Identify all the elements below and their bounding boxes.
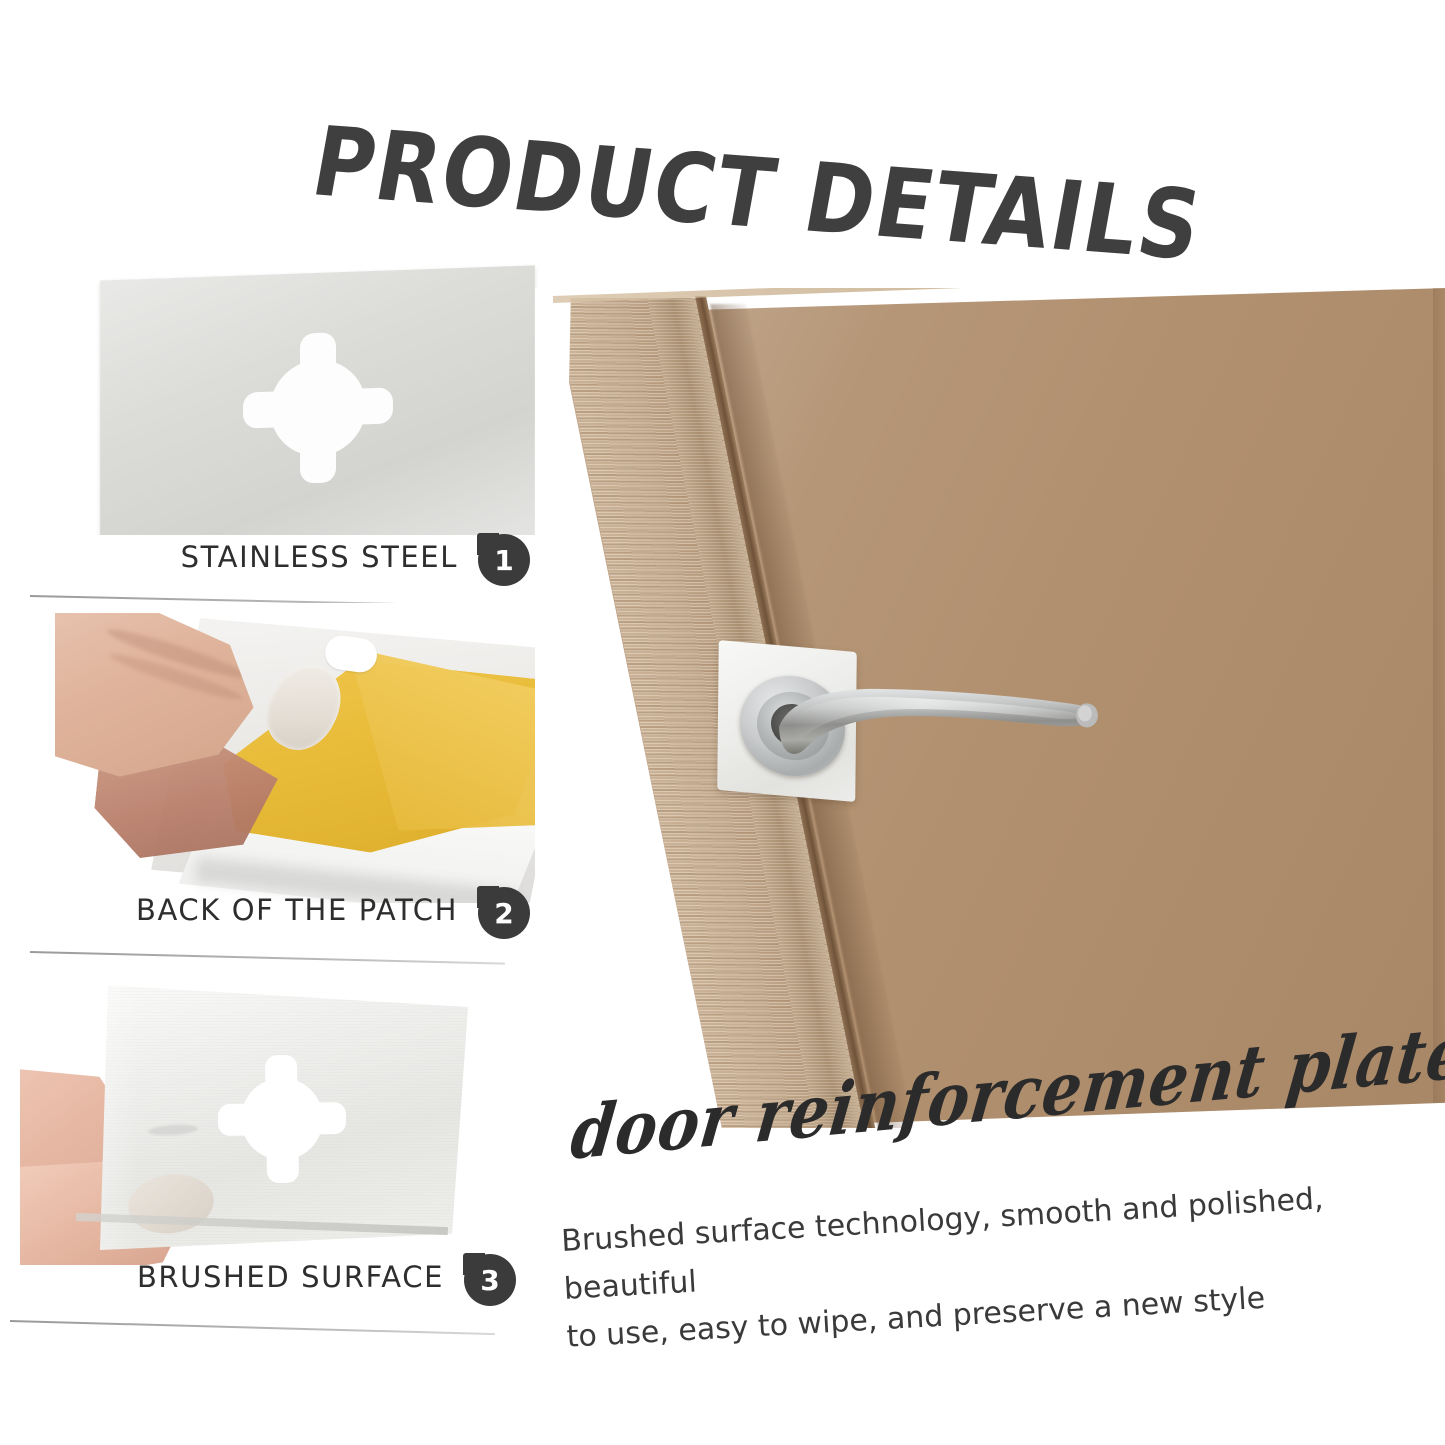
feature-badge-3: 3 <box>464 1254 516 1306</box>
feature-badge-number-2: 2 <box>478 887 530 939</box>
cutout-arm-left <box>243 390 315 429</box>
page-header: PRODUCT DETAILS <box>0 104 1445 274</box>
cross-cutout <box>243 330 393 485</box>
feature-caption-2: BACK OF THE PATCH 2 <box>30 893 530 953</box>
cutout-arm-right <box>320 387 392 426</box>
feature-panel-2: BACK OF THE PATCH 2 <box>0 603 560 948</box>
feature-badge-number-3: 3 <box>464 1254 516 1306</box>
feature-divider-2 <box>30 951 505 965</box>
feature-badge-number-1: 1 <box>478 534 530 586</box>
wooden-door-with-handle-photo <box>535 288 1445 1128</box>
brushed-plate-in-hand-photo <box>0 965 560 1275</box>
feature-badge-2: 2 <box>478 887 530 939</box>
wall-background-sliver <box>535 288 571 1128</box>
door-lever-handle <box>770 675 1101 767</box>
adhesive-backing-peel-photo <box>0 603 560 903</box>
door-right-edge <box>1433 288 1445 1128</box>
feature-panel-1: STAINLESS STEEL 1 <box>0 255 560 600</box>
surface-scuff <box>148 1123 199 1136</box>
feature-caption-1: STAINLESS STEEL 1 <box>30 540 530 600</box>
feature-panel-3: BRUSHED SURFACE 3 <box>0 965 560 1355</box>
feature-label-2: BACK OF THE PATCH <box>136 893 458 927</box>
cutout-arm-right <box>284 1102 347 1135</box>
cutout-arm-left <box>218 1103 281 1136</box>
steel-plate-body <box>100 265 535 535</box>
feature-caption-3: BRUSHED SURFACE 3 <box>16 1260 516 1320</box>
feature-badge-1: 1 <box>478 534 530 586</box>
cross-cutout <box>217 1054 347 1184</box>
product-description: Brushed surface technology, smooth and p… <box>560 1174 1357 1362</box>
feature-label-3: BRUSHED SURFACE <box>137 1260 444 1294</box>
feature-column: STAINLESS STEEL 1 <box>0 255 560 1365</box>
lever-shape-icon <box>770 675 1101 767</box>
feature-label-1: STAINLESS STEEL <box>181 540 458 574</box>
stainless-steel-plate-photo <box>0 255 560 535</box>
peel-scene <box>55 613 535 903</box>
brushed-scene <box>20 965 540 1265</box>
feature-divider-3 <box>10 1320 495 1335</box>
